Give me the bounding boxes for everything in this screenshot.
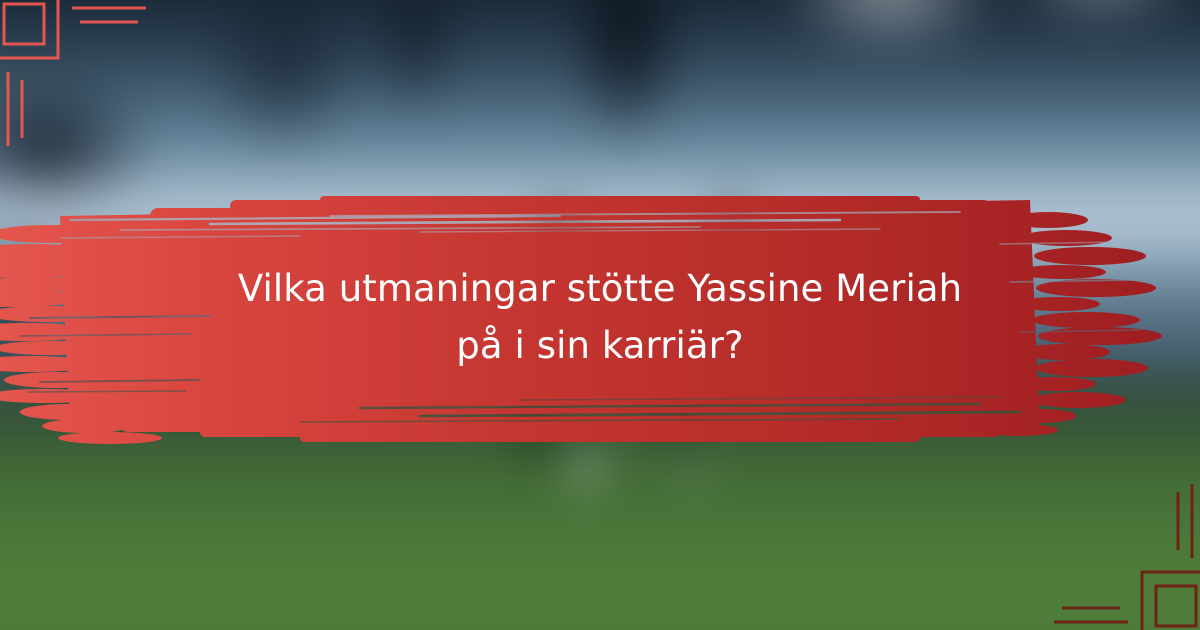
- brush-stroke-banner: [0, 186, 1200, 448]
- quote-card: Vilka utmaningar stötte Yassine Meriah p…: [0, 0, 1200, 630]
